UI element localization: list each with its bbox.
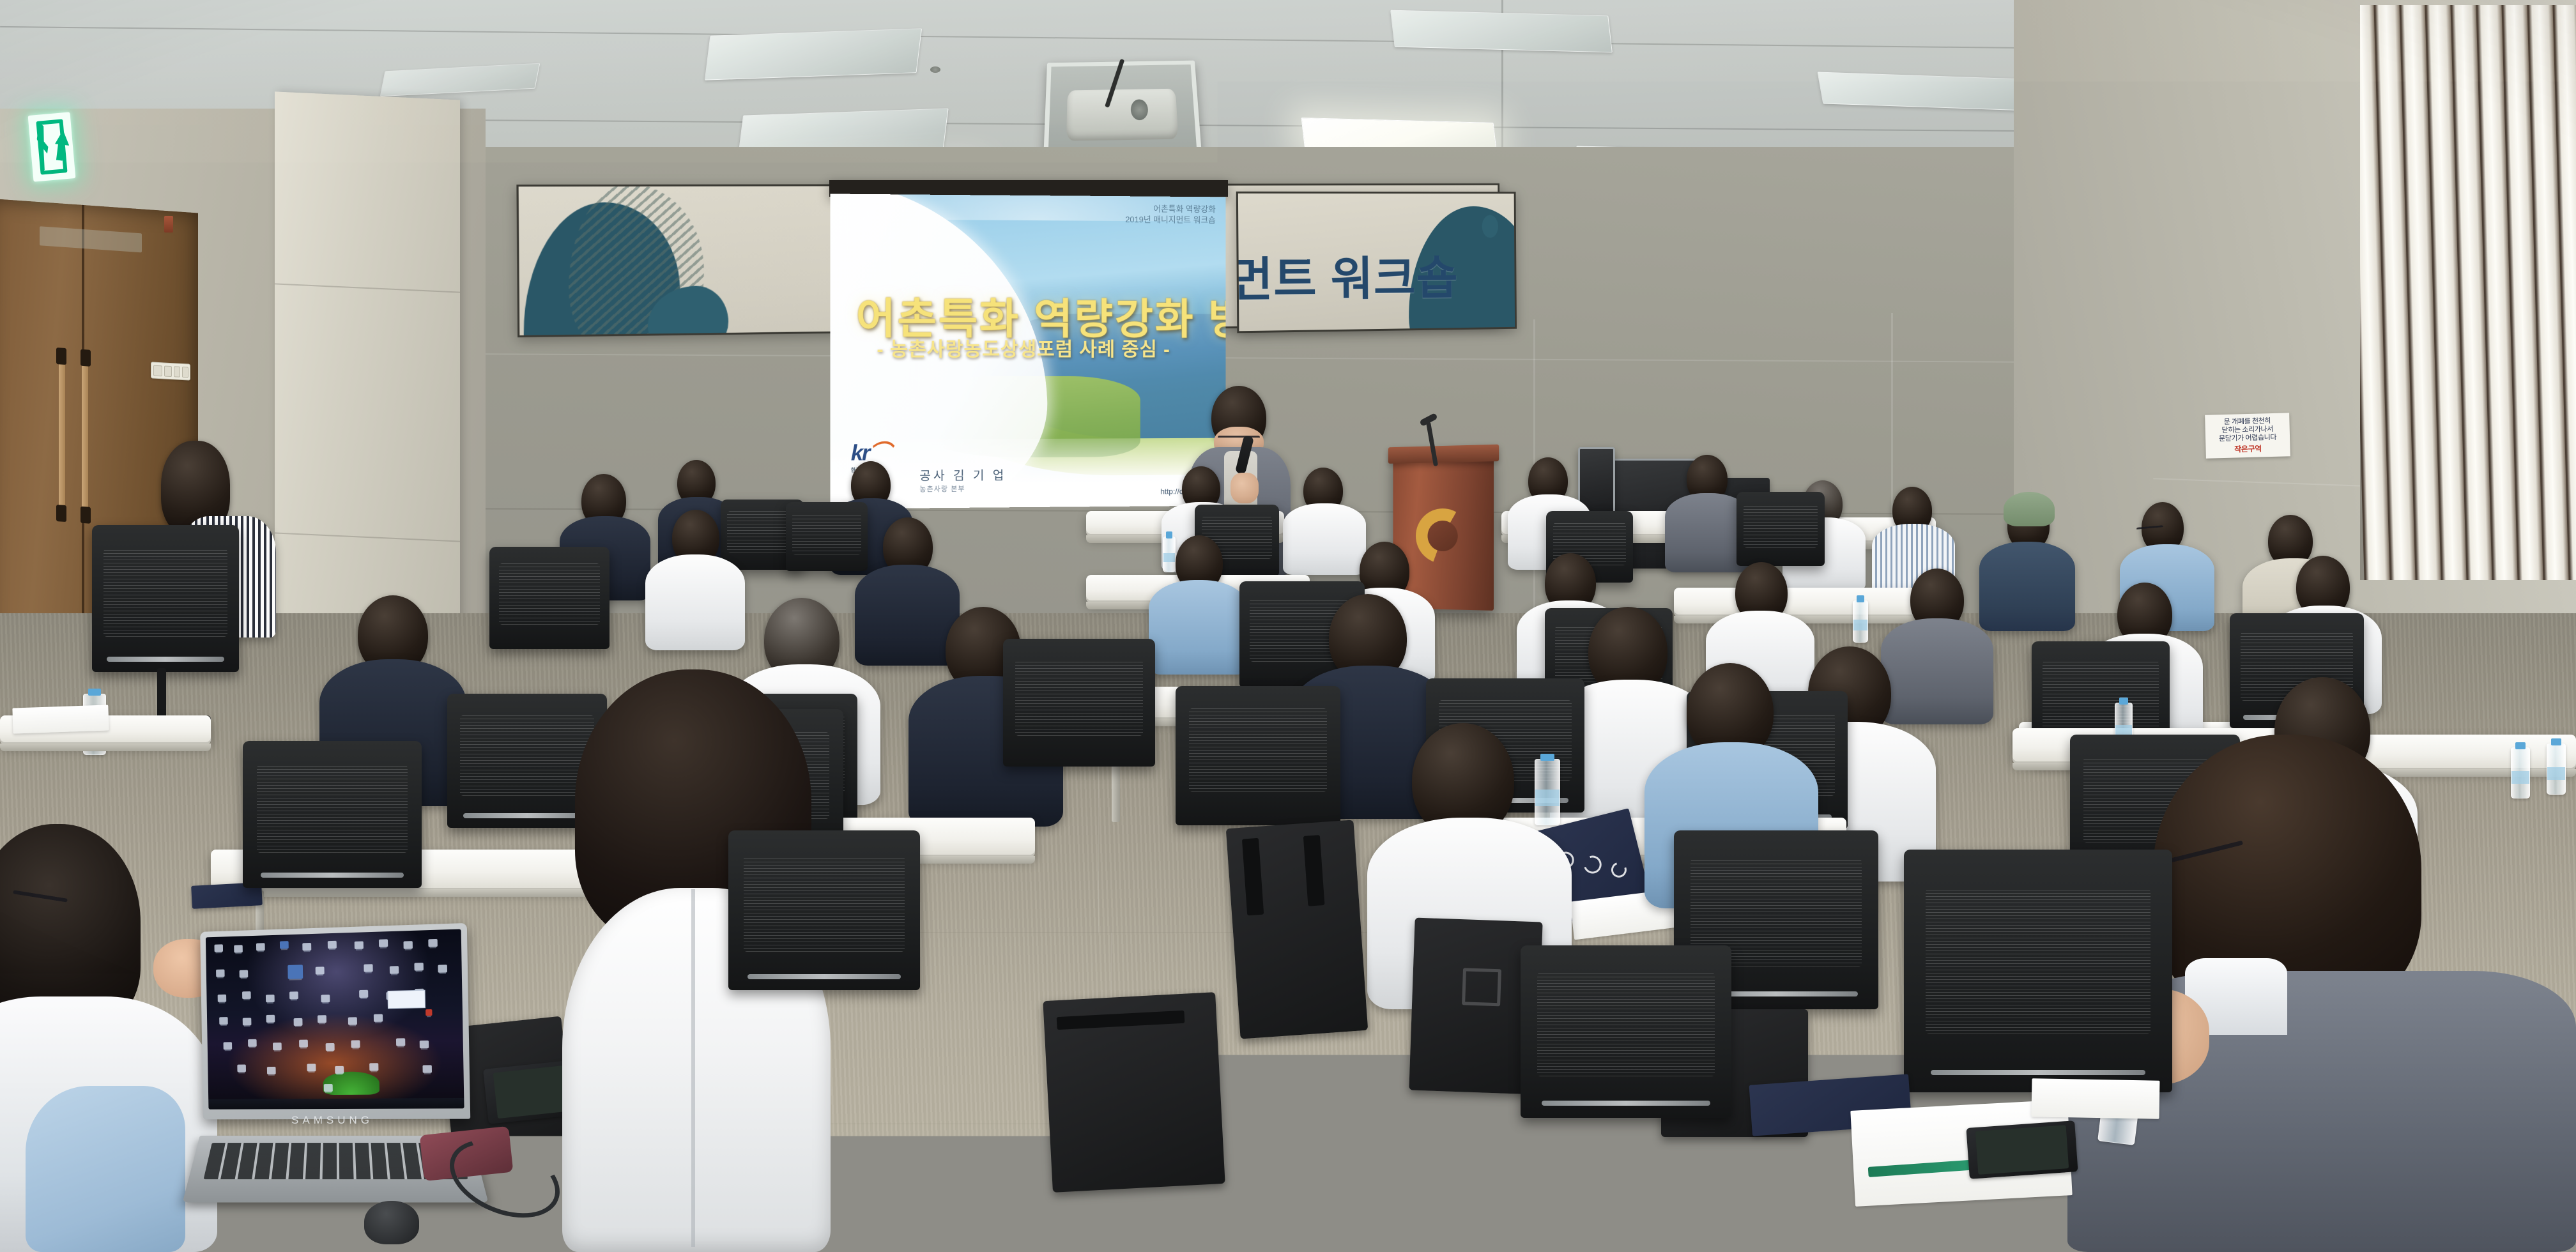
slide-corner-line-1: 어촌특화 역량강화 <box>1125 204 1216 215</box>
taskbar[interactable] <box>208 1098 464 1110</box>
foreground-left-sleeve <box>26 1086 185 1252</box>
chair[interactable] <box>1003 639 1155 767</box>
fire-alarm-indicator <box>164 216 173 233</box>
presenter-hand <box>1230 473 1259 503</box>
slide-presenter-org: 농촌사랑 본부 <box>919 483 1006 494</box>
chair[interactable] <box>1176 686 1340 825</box>
door-bar-bracket <box>80 507 91 524</box>
presentation-slide: 어촌특화 역량강화 2019년 매니지먼트 워크숍 어촌특화 역량강화 방안 -… <box>830 194 1225 509</box>
event-banner-right: 먼트 워크숍 <box>1236 192 1517 333</box>
door-push-bar[interactable] <box>59 360 65 508</box>
attendee-cap <box>2004 492 2055 526</box>
chair[interactable] <box>1736 492 1825 566</box>
smartphone[interactable] <box>1966 1120 2078 1179</box>
door-vent <box>40 226 142 252</box>
water-bottle[interactable] <box>1853 600 1868 643</box>
water-bottle[interactable] <box>1163 537 1176 572</box>
pillar-seam <box>275 532 460 542</box>
slide-corner-line-2: 2019년 매니지먼트 워크숍 <box>1125 215 1216 226</box>
slide-presenter: 공사 김 기 업 농촌사랑 본부 <box>919 466 1006 494</box>
chair[interactable] <box>1904 850 2172 1092</box>
water-bottle[interactable] <box>2511 747 2530 798</box>
smoke-detector-icon <box>930 66 940 73</box>
chair[interactable] <box>1521 945 1731 1118</box>
pillar-seam <box>275 283 460 293</box>
slide-subtitle: - 농촌사랑농도상생포럼 사례 중심 - <box>877 333 1170 362</box>
notice-line-3: 문닫기가 어렵습니다 <box>2208 433 2287 443</box>
door-push-bar[interactable] <box>82 362 88 510</box>
door-bar-bracket <box>80 349 91 367</box>
chair[interactable] <box>243 741 422 888</box>
attendee-torso <box>645 554 745 650</box>
backpack <box>1226 820 1368 1039</box>
door-bar-bracket <box>56 347 66 365</box>
projector-icon <box>1066 89 1178 141</box>
banner-blob-dot <box>1482 215 1498 238</box>
attendee-torso <box>855 565 960 666</box>
paper-handout <box>12 705 109 733</box>
laptop-bag <box>1043 992 1225 1193</box>
notice-warning: 작은구역 <box>2208 443 2287 454</box>
water-bottle[interactable] <box>1535 759 1560 825</box>
banner-title-right: 먼트 워크숍 <box>1236 240 1459 309</box>
chair[interactable] <box>728 830 920 990</box>
lectern <box>1393 455 1494 611</box>
water-bottle[interactable] <box>2547 744 2566 795</box>
chair[interactable] <box>786 502 868 571</box>
attendee-torso <box>1881 618 1993 724</box>
lectern-top <box>1388 445 1499 464</box>
attendee-torso <box>1979 542 2075 631</box>
door-notice-sign: 문 개폐를 천천히 닫히는 소리가나서 문닫기가 어렵습니다 작은구역 <box>2205 413 2290 458</box>
chair[interactable] <box>92 525 239 672</box>
attendee-torso <box>1149 580 1248 675</box>
desk <box>1674 588 1917 617</box>
chair-post <box>157 668 166 719</box>
projection-screen: 어촌특화 역량강화 2019년 매니지먼트 워크숍 어촌특화 역량강화 방안 -… <box>830 194 1225 509</box>
presenter-glasses <box>1218 436 1260 439</box>
ceiling-light <box>705 28 922 80</box>
chair[interactable] <box>489 547 609 649</box>
vertical-blinds[interactable] <box>2360 5 2576 580</box>
laptop-screen[interactable] <box>206 929 464 1109</box>
laptop-brand: SAMSUNG <box>291 1114 373 1127</box>
light-switch-panel[interactable] <box>151 362 190 380</box>
paper-handout <box>2031 1078 2159 1118</box>
slide-presenter-name: 공사 김 기 업 <box>919 469 1006 483</box>
laptop-lid[interactable] <box>200 923 470 1119</box>
seminar-room-photo: 문 개폐를 천천히 닫히는 소리가나서 문닫기가 어렵습니다 작은구역 2019… <box>0 0 2576 1252</box>
projector-lens-icon <box>1130 99 1148 120</box>
door-bar-bracket <box>56 505 66 522</box>
attendee-torso <box>1283 503 1366 575</box>
ceiling-light <box>1390 10 1613 53</box>
government-emblem-icon <box>1416 508 1470 563</box>
emergency-exit-sign <box>28 112 76 181</box>
computer-mouse[interactable] <box>364 1201 419 1244</box>
shirt-seam <box>691 889 695 1247</box>
slide-corner-note: 어촌특화 역량강화 2019년 매니지먼트 워크숍 <box>1125 204 1216 226</box>
